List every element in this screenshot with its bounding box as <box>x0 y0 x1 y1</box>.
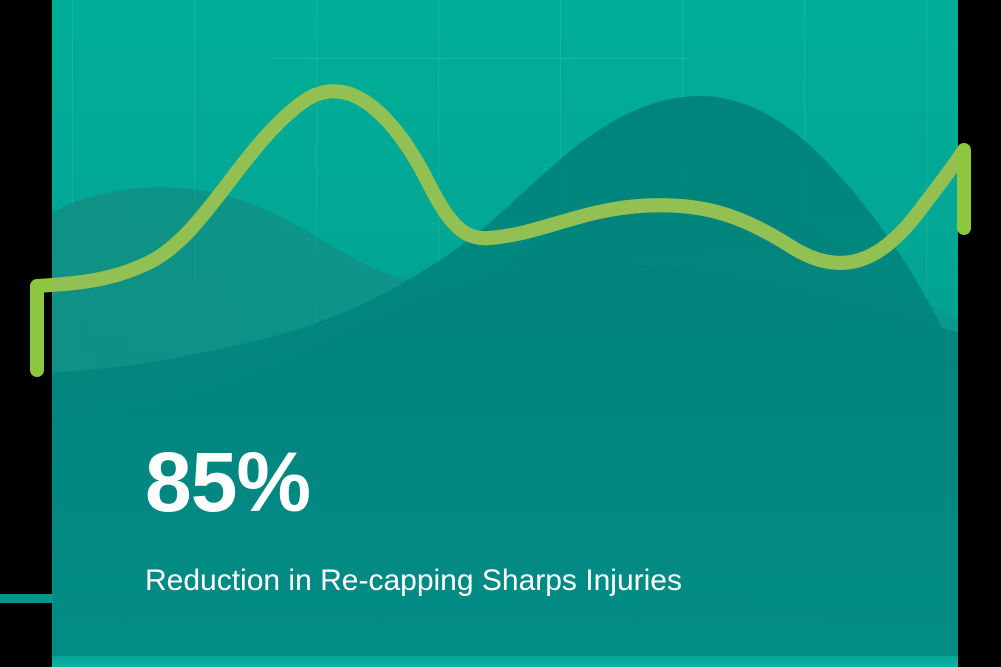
left-accent-bar <box>0 594 53 603</box>
statistic-card-stage: 85% Reduction in Re-capping Sharps Injur… <box>0 0 1001 667</box>
statistic-value: 85% <box>145 440 682 524</box>
statistic-text-block: 85% Reduction in Re-capping Sharps Injur… <box>145 440 682 596</box>
statistic-label: Reduction in Re-capping Sharps Injuries <box>145 524 682 596</box>
card-bottom-strip <box>52 656 958 667</box>
